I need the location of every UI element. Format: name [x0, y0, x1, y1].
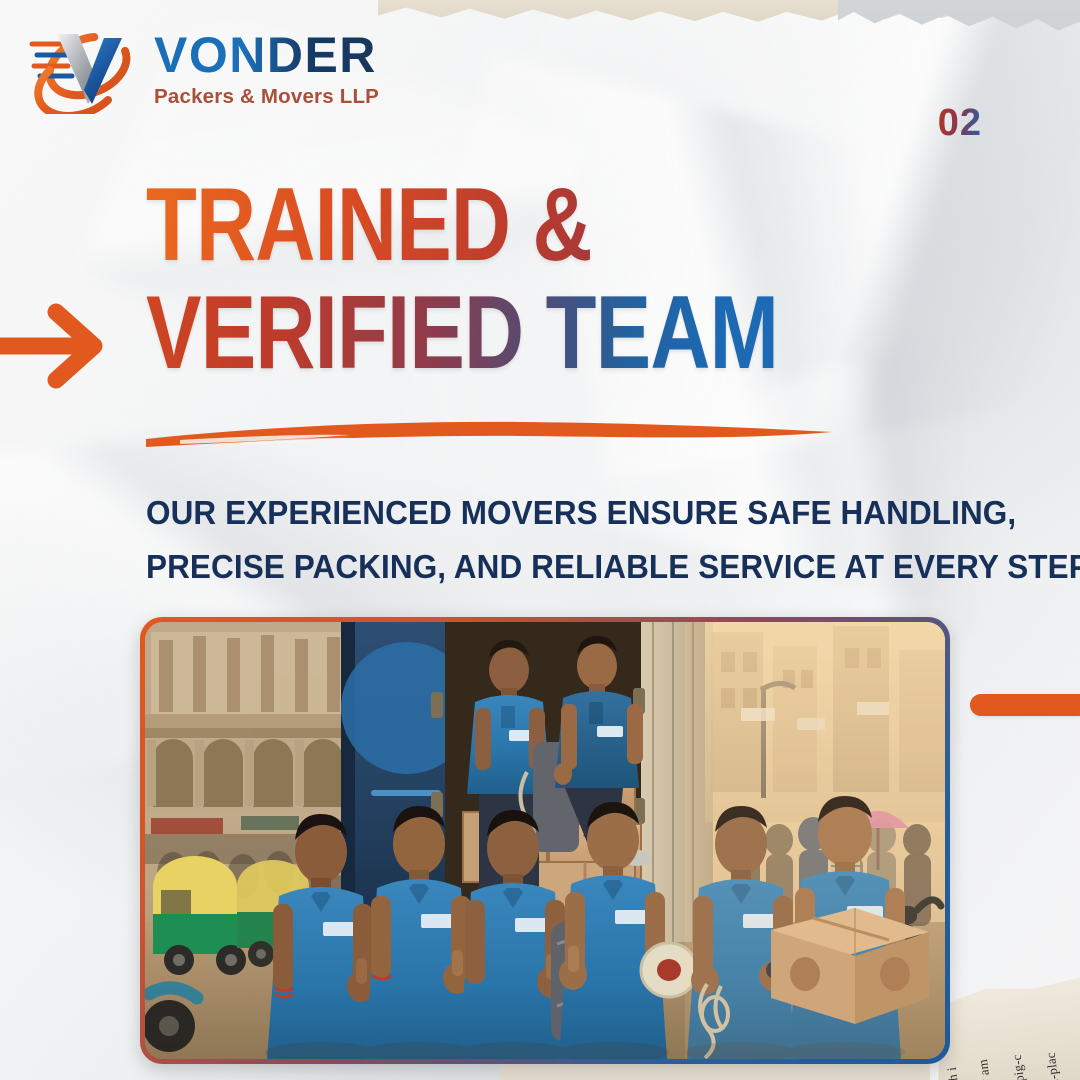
brush-stroke-underline-icon — [140, 406, 840, 456]
subtitle: OUR EXPERIENCED MOVERS ENSURE SAFE HANDL… — [146, 487, 1011, 596]
slide-number: 02 — [938, 104, 982, 142]
brand-logo[interactable]: VONDER Packers & Movers LLP — [26, 16, 426, 116]
team-photo-frame — [140, 617, 950, 1064]
page-title: TRAINED & VERIFIED TEAM — [146, 176, 1006, 384]
poster-canvas: par sic we h rea -c acc ll i ng, ht tir … — [0, 0, 1080, 1080]
brand-name: VONDER — [154, 30, 379, 80]
subtitle-line-1: OUR EXPERIENCED MOVERS ENSURE SAFE HANDL… — [146, 487, 1011, 541]
torn-paper-top-right — [838, 0, 1080, 32]
headline-line-2: VERIFIED TEAM — [146, 284, 834, 384]
brand-tagline: Packers & Movers LLP — [154, 85, 379, 109]
logo-wordmark: VONDER Packers & Movers LLP — [154, 30, 379, 109]
orange-bar-accent — [970, 694, 1080, 716]
subtitle-line-2: PRECISE PACKING, AND RELIABLE SERVICE AT… — [146, 541, 1011, 595]
right-arrow-icon — [0, 296, 118, 396]
team-photo — [145, 622, 945, 1059]
team-photo-illustration — [145, 622, 945, 1059]
vonder-v-swoosh-logo-icon — [26, 16, 144, 114]
headline-line-1: TRAINED & — [146, 176, 834, 276]
